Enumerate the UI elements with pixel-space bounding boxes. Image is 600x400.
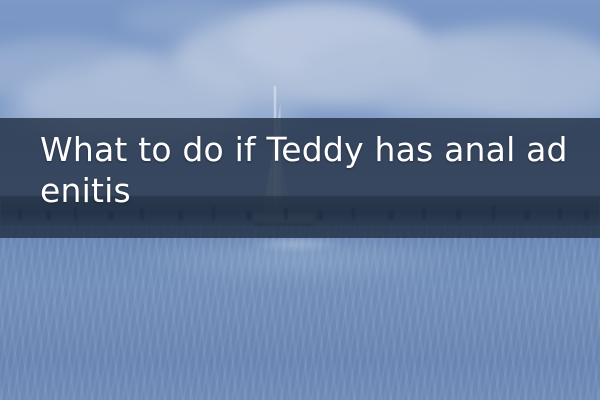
page-title: What to do if Teddy has anal ad enitis (40, 129, 580, 211)
cloud-icon (120, 0, 260, 42)
photo-banner: What to do if Teddy has anal ad enitis (0, 0, 600, 400)
boat-wake (248, 236, 344, 252)
